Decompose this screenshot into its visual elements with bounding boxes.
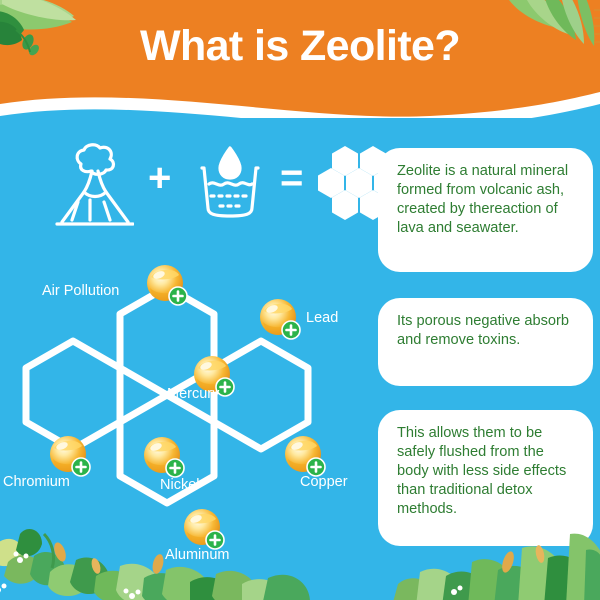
toxin-label: Nickel <box>160 477 199 493</box>
toxin-sphere[interactable] <box>258 298 304 344</box>
info-card-3-text: This allows them to be safely flushed fr… <box>397 424 576 519</box>
toxin-sphere[interactable] <box>145 264 191 310</box>
toxin-sphere[interactable] <box>142 436 188 482</box>
toxin-label: Mercury <box>167 386 219 402</box>
toxin-label: Copper <box>300 474 348 490</box>
info-card-2-text: Its porous negative absorb and remove to… <box>397 312 576 350</box>
plus-sign: + <box>148 158 171 198</box>
info-card-1: Zeolite is a natural mineral formed from… <box>378 148 593 272</box>
honeycomb-diagram: Air PollutionLeadMercuryChromiumNickelCo… <box>0 250 375 560</box>
info-card-2: Its porous negative absorb and remove to… <box>378 298 593 386</box>
info-card-3: This allows them to be safely flushed fr… <box>378 410 593 546</box>
infographic-poster: What is Zeolite? + <box>0 0 600 600</box>
wave-divider-blue <box>0 96 600 118</box>
toxin-label: Chromium <box>3 474 70 490</box>
water-glass-icon <box>190 142 270 226</box>
toxin-label: Aluminum <box>165 547 229 563</box>
toxin-label: Air Pollution <box>42 283 119 299</box>
info-card-1-text: Zeolite is a natural mineral formed from… <box>397 162 576 238</box>
equals-sign: = <box>280 158 303 198</box>
equation-row: + = <box>40 136 370 231</box>
volcano-icon <box>48 140 134 228</box>
toxin-label: Lead <box>306 310 338 326</box>
page-title: What is Zeolite? <box>0 22 600 71</box>
